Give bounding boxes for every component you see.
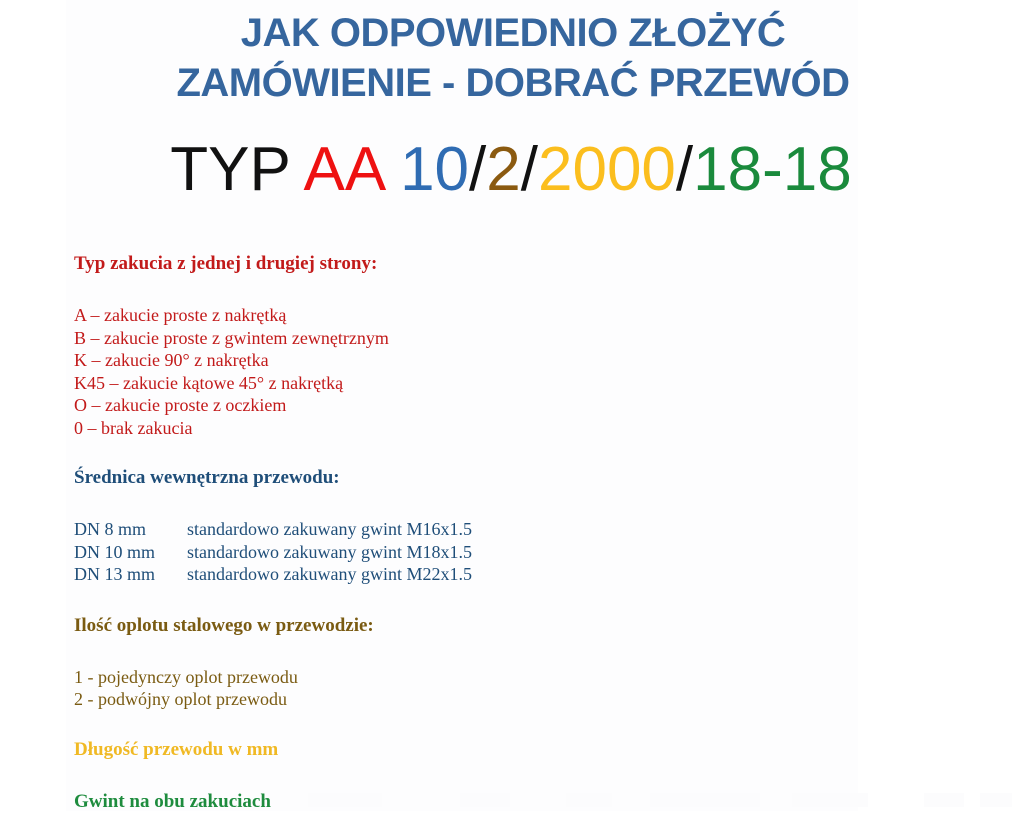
dn-thread: standardowo zakuwany gwint M22x1.5 [187,563,472,586]
slide-page: JAK ODPOWIEDNIO ZŁOŻYĆ ZAMÓWIENIE - DOBR… [0,0,1012,811]
table-row: DN 10 mmstandardowo zakuwany gwint M18x1… [74,541,854,564]
spacer [74,490,854,518]
table-row: DN 13 mmstandardowo zakuwany gwint M22x1… [74,563,854,586]
dn-thread: standardowo zakuwany gwint M18x1.5 [187,541,472,564]
artifact [650,793,760,807]
section-list-inner-diameter: DN 8 mmstandardowo zakuwany gwint M16x1.… [74,518,854,586]
section-heading-hose-length: Długość przewodu w mm [74,738,854,762]
table-row: DN 8 mmstandardowo zakuwany gwint M16x1.… [74,518,854,541]
section-list-steel-braid-count: 1 - pojedynczy oplot przewodu 2 - podwój… [74,666,854,711]
artifact [566,793,612,807]
dn-size: DN 10 mm [74,541,187,564]
artifact [460,793,510,807]
list-item: 2 - podwójny oplot przewodu [74,688,854,711]
code-separator-2: / [521,135,538,204]
code-braid-count: 2 [486,135,520,204]
legend-sections: Typ zakucia z jednej i drugiej strony: A… [74,252,854,814]
dn-size: DN 8 mm [74,518,187,541]
artifact [308,793,382,807]
page-title: JAK ODPOWIEDNIO ZŁOŻYĆ ZAMÓWIENIE - DOBR… [0,8,1012,108]
section-heading-steel-braid-count: Ilość oplotu stalowego w przewodzie: [74,614,854,638]
section-list-end-fitting-type: A – zakucie proste z nakrętką B – zakuci… [74,304,854,439]
artifact [924,793,964,807]
code-thread: 18-18 [693,135,852,204]
list-item: 1 - pojedynczy oplot przewodu [74,666,854,689]
code-length-mm: 2000 [538,135,676,204]
list-item: B – zakucie proste z gwintem zewnętrznym [74,327,854,350]
spacer [74,439,854,466]
spacer [74,638,854,666]
code-end-type: AA [304,135,383,204]
bottom-edge-artifacts [0,793,1012,811]
list-item: K45 – zakucie kątowe 45° z nakrętką [74,372,854,395]
list-item: O – zakucie proste z oczkiem [74,394,854,417]
section-heading-inner-diameter: Średnica wewnętrzna przewodu: [74,466,854,490]
code-separator-3: / [676,135,693,204]
spacer [74,276,854,304]
spacer [74,586,854,614]
artifact [792,793,868,807]
spacer [74,762,854,790]
page-title-line-2: ZAMÓWIENIE - DOBRAĆ PRZEWÓD [0,58,1012,108]
product-code-line: TYP AA 10/2/2000/18-18 [0,132,1012,208]
section-heading-end-fitting-type: Typ zakucia z jednej i drugiej strony: [74,252,854,276]
code-separator-1: / [469,135,486,204]
page-title-line-1: JAK ODPOWIEDNIO ZŁOŻYĆ [0,8,1012,58]
list-item: A – zakucie proste z nakrętką [74,304,854,327]
list-item: K – zakucie 90° z nakrętka [74,349,854,372]
artifact [980,793,1012,807]
code-inner-diameter: 10 [400,135,469,204]
list-item: 0 – brak zakucia [74,417,854,440]
code-typ-label: TYP [170,135,289,204]
spacer [74,711,854,738]
dn-size: DN 13 mm [74,563,187,586]
dn-thread: standardowo zakuwany gwint M16x1.5 [187,518,472,541]
